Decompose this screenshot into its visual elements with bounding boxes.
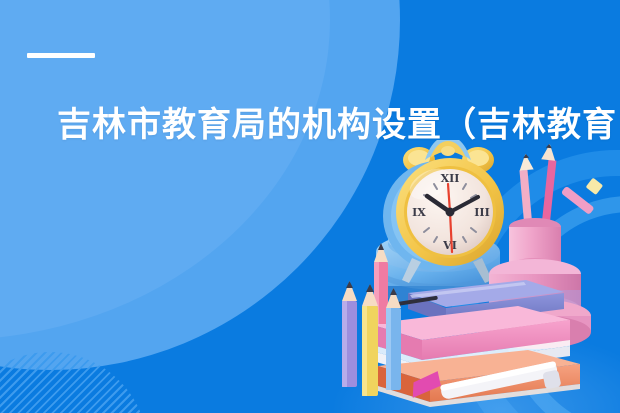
svg-text:III: III (474, 206, 489, 219)
title-accent-bar (27, 53, 95, 58)
striped-circle-shape (0, 352, 148, 413)
pencil-blue (386, 288, 401, 390)
svg-text:VI: VI (442, 239, 457, 252)
holder-pencil-rose (518, 153, 533, 228)
light-circle-shape-2 (0, 0, 330, 340)
svg-text:XII: XII (441, 172, 460, 185)
holder-pencil-pink (541, 143, 557, 226)
svg-text:IX: IX (412, 206, 426, 219)
pencil-yellow (362, 284, 378, 396)
banner-container: 吉林市教育局的机构设置（吉林教育 (0, 0, 620, 413)
education-illustration: XII III VI IX (330, 140, 620, 413)
holder-brush (561, 178, 603, 215)
pencil-purple (342, 281, 357, 387)
